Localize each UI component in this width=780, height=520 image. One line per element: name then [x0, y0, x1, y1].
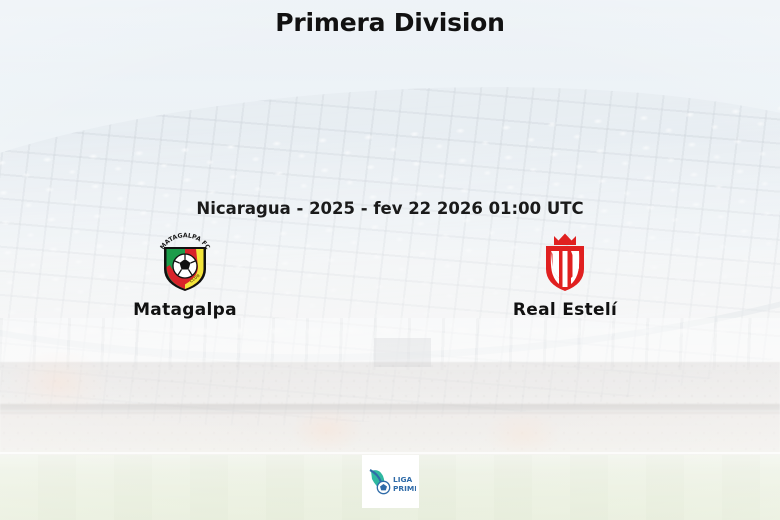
league-name-line2: PRIMERA — [393, 484, 416, 493]
matagalpa-fc-crest-icon: MATAGALPA FC C — [156, 229, 214, 293]
away-team-name: Real Estelí — [445, 300, 685, 320]
home-team-name: Matagalpa — [65, 300, 305, 320]
page-title: Primera Division — [0, 8, 780, 37]
away-crest-wrap — [445, 228, 685, 294]
league-name-line1: LIGA — [393, 475, 413, 484]
real-esteli-crest-icon — [536, 229, 594, 293]
home-crest-wrap: MATAGALPA FC C — [65, 228, 305, 294]
league-logo-card: LIGA PRIMERA — [362, 455, 419, 508]
match-preview-card: Primera Division Nicaragua - 2025 - fev … — [0, 0, 780, 520]
liga-primera-logo-icon: LIGA PRIMERA — [366, 465, 416, 499]
home-team-block: MATAGALPA FC C — [65, 228, 305, 320]
away-team-block: Real Estelí — [445, 228, 685, 320]
match-meta-line: Nicaragua - 2025 - fev 22 2026 01:00 UTC — [0, 199, 780, 218]
